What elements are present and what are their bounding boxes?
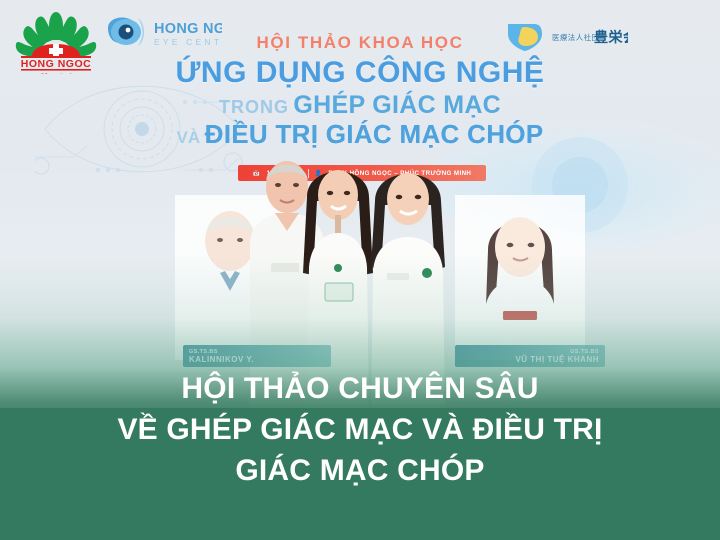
caption-title: HỘI THẢO CHUYÊN SÂU VỀ GHÉP GIÁC MẠC VÀ … [0,368,720,491]
nameplate-left-role: GS.TS.BS [189,349,325,355]
nameplate-left-name: KALINNIKOV Y. [189,355,325,364]
banner-line3: VÀ ĐIỀU TRỊ GIÁC MẠC CHÓP [0,120,720,149]
nameplate-right: GS.TS.BS VŨ THỊ TUỆ KHANH [455,345,605,367]
banner-line2-small: TRONG [219,97,289,117]
banner-line3-small: VÀ [177,128,201,147]
hong-ngoc-hospital-logo: HONG NGOC Hospital [12,6,100,74]
caption-line-1: HỘI THẢO CHUYÊN SÂU [0,368,720,409]
heart-shield-icon [508,24,542,51]
caption-line-2: VỀ GHÉP GIÁC MẠC VÀ ĐIỀU TRỊ [0,409,720,450]
blue-eye-swirl-icon [108,17,144,46]
hong-ngoc-eye-center-logo: HONG NGOC EYE CENTER [104,12,222,52]
japanese-medical-corporation-logo: 医療法人社団 豊栄会 [504,18,628,52]
poster-canvas: HỘI THẢO KHOA HỌC ỨNG DỤNG CÔNG NGHỆ TRO… [0,0,720,540]
banner-line2-large: GHÉP GIÁC MẠC [293,91,501,119]
nameplate-left: GS.TS.BS KALINNIKOV Y. [183,345,331,367]
eye-center-subscript: EYE CENTER [154,37,222,47]
banner-line3-large: ĐIỀU TRỊ GIÁC MẠC CHÓP [205,119,544,149]
eye-center-wordmark: HONG NGOC [154,21,222,37]
partner-logo-prefix: 医療法人社団 [552,32,599,42]
event-photo: HỘI THẢO KHOA HỌC ỨNG DỤNG CÔNG NGHỆ TRO… [0,0,720,420]
partner-logo-wordmark: 豊栄会 [594,29,628,46]
banner-line2: TRONG GHÉP GIÁC MẠC [0,91,720,119]
nameplate-right-name: VŨ THỊ TUỆ KHANH [515,355,599,364]
hospital-logo-wordmark: HONG NGOC [21,58,91,70]
hospital-logo-subscript: Hospital [39,72,72,74]
banner-line1: ỨNG DỤNG CÔNG NGHỆ [0,56,720,90]
nameplate-right-role: GS.TS.BS [570,349,599,355]
caption-line-3: GIÁC MẠC CHÓP [0,450,720,491]
